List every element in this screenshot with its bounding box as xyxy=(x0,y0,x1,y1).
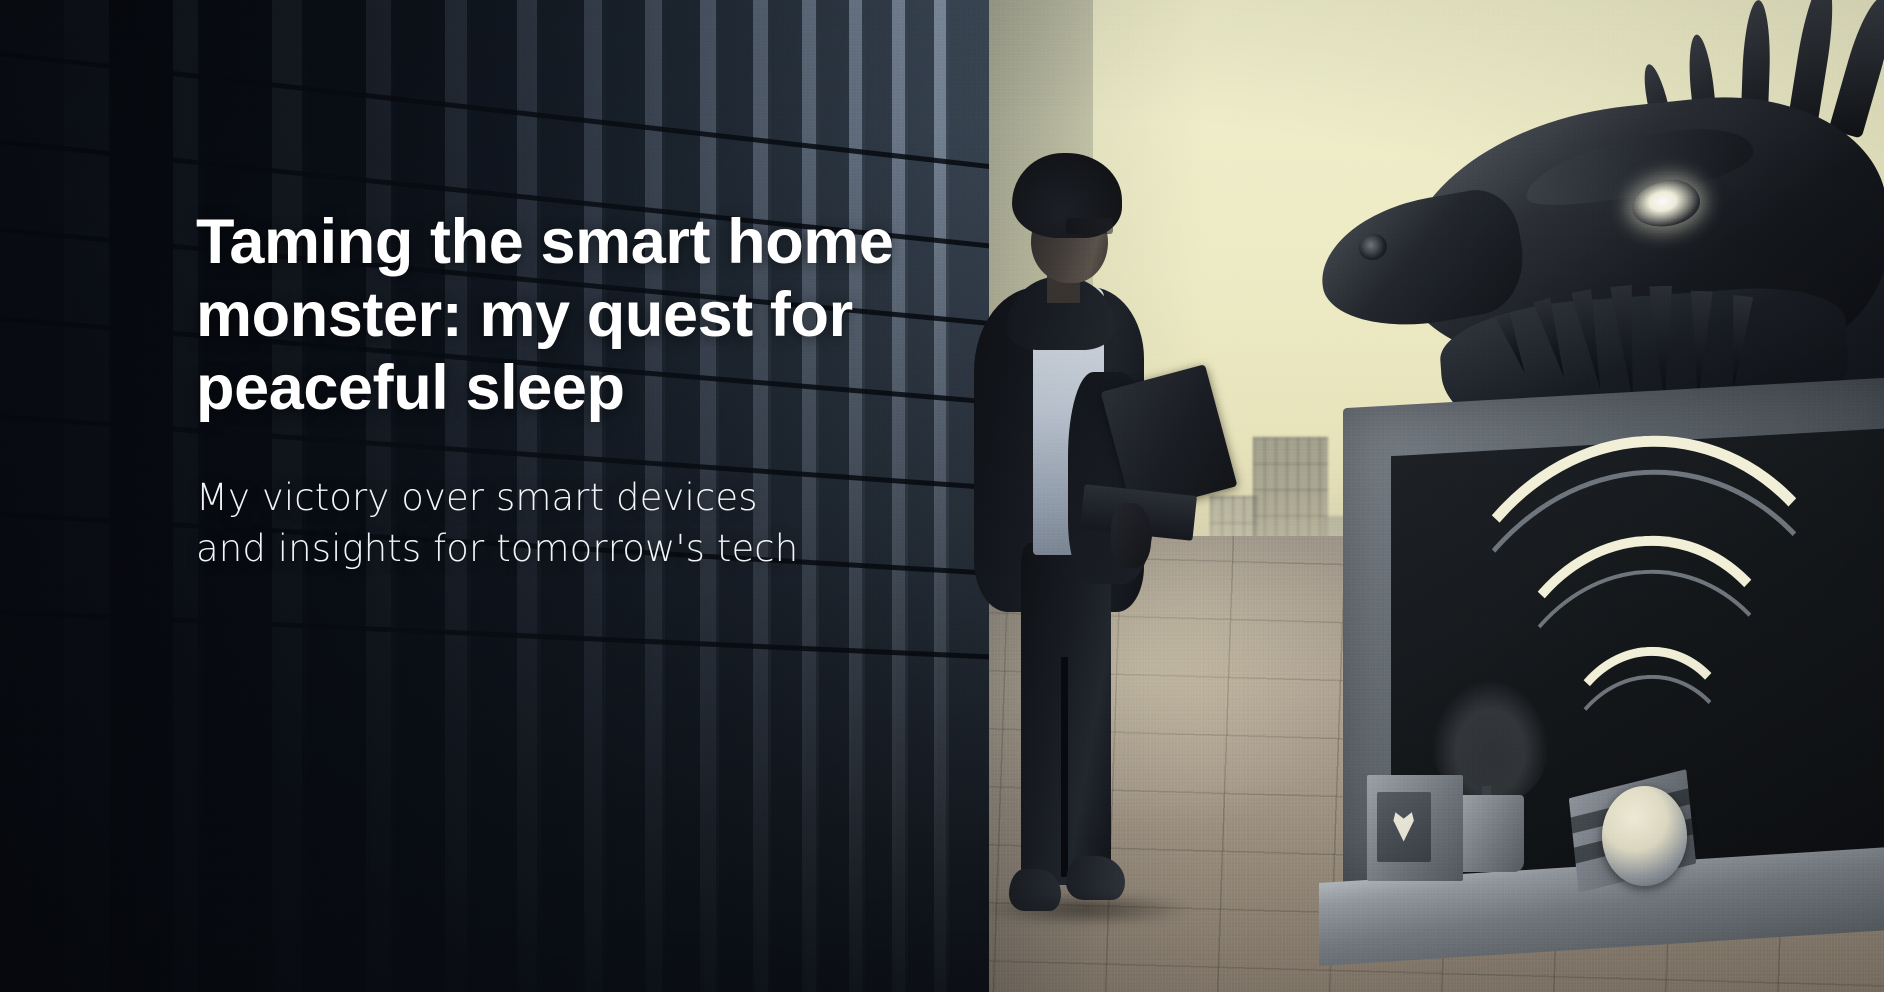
hero-banner: Taming the smart home monster: my quest … xyxy=(0,0,1884,992)
hero-subtitle-line-1: My victory over smart devices xyxy=(196,473,956,523)
wifi-monument xyxy=(1319,392,1884,948)
person-ground-shadow xyxy=(979,893,1191,926)
person-with-laptop xyxy=(936,153,1172,966)
hero-subtitle-line-2: and insights for tomorrow's tech xyxy=(196,524,956,574)
tower-glass-panel xyxy=(109,0,178,992)
person-leg-gap xyxy=(1061,657,1068,877)
page-title: Taming the smart home monster: my quest … xyxy=(196,206,956,425)
hero-copy: Taming the smart home monster: my quest … xyxy=(196,206,956,574)
planter-face xyxy=(1377,792,1431,862)
person-hand xyxy=(1111,503,1151,568)
glasses-icon xyxy=(1066,218,1113,234)
dragon-horn xyxy=(1829,0,1884,138)
hero-subtitle: My victory over smart devices and insigh… xyxy=(196,473,956,574)
wifi-dot xyxy=(1602,786,1686,886)
heart-icon xyxy=(1393,812,1414,841)
